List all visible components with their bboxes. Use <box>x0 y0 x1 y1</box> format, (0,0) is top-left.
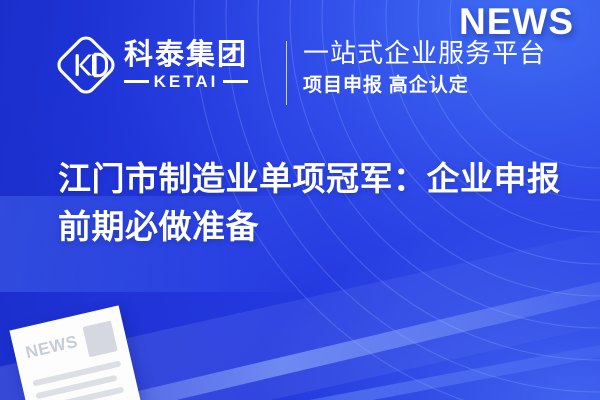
brand-header: 科泰集团 KETAI <box>57 36 248 94</box>
page-title: 江门市制造业单项冠军：企业申报前期必做准备 <box>58 155 570 251</box>
tagline-block: 一站式企业服务平台 项目申报 高企认定 <box>303 38 546 98</box>
wordmark-rule-right <box>223 80 248 83</box>
brand-name-en-row: KETAI <box>124 73 248 90</box>
news-banner: NEWS 科泰集团 <box>0 0 600 400</box>
tagline-sub: 项目申报 高企认定 <box>303 75 546 98</box>
brand-logo-lockup[interactable]: 科泰集团 KETAI <box>57 36 248 94</box>
brand-wordmark: 科泰集团 KETAI <box>124 40 248 90</box>
ketai-diamond-kd-logo-icon <box>57 36 115 94</box>
newspaper-masthead: NEWS <box>24 333 79 361</box>
newspaper-thumbnail <box>83 321 118 358</box>
news-wordmark: NEWS <box>459 3 574 40</box>
brand-name-en: KETAI <box>154 73 219 90</box>
wordmark-rule-left <box>124 80 149 83</box>
brand-name-cn: 科泰集团 <box>124 40 248 70</box>
header-divider <box>286 41 287 105</box>
tagline-main: 一站式企业服务平台 <box>303 38 546 69</box>
